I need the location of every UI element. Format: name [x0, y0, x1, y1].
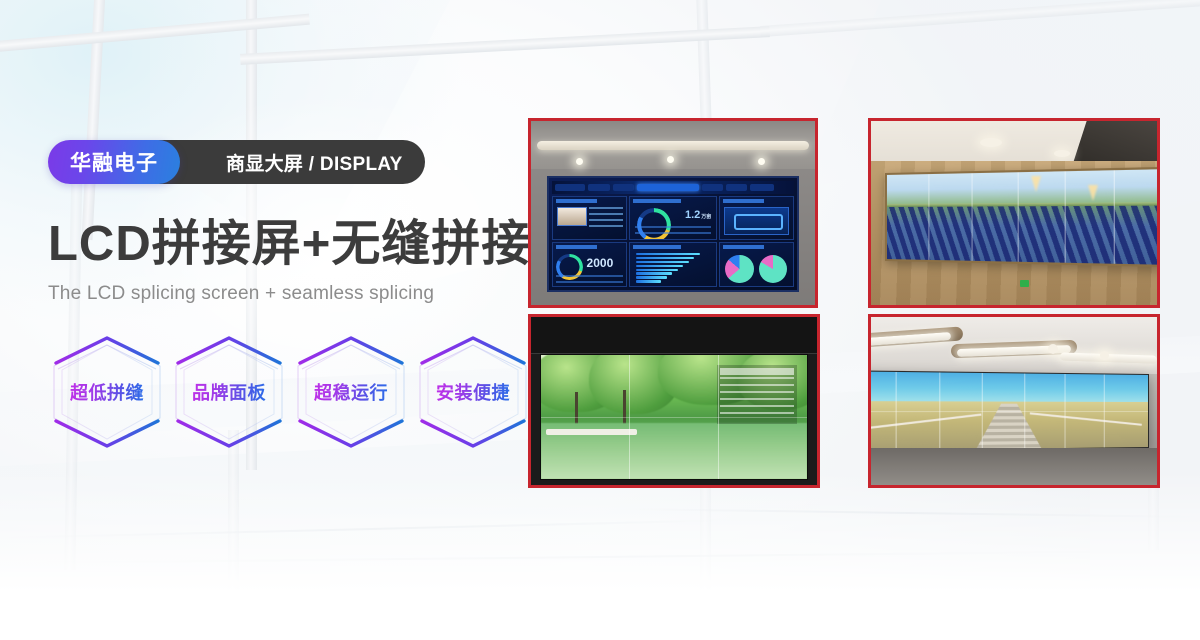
bar [636, 265, 684, 267]
card-header [633, 245, 681, 249]
photo-gallery: 1.2万亩 2000 [528, 118, 1162, 488]
photo-scene [871, 317, 1157, 485]
feature-label: 品牌面板 [192, 379, 266, 405]
chart-legend [635, 226, 712, 237]
video-wall-screen [885, 166, 1160, 267]
pie-chart-group [720, 256, 794, 282]
ceiling-cove-light [537, 141, 810, 150]
dashboard-nav-item [613, 184, 634, 191]
background-bottom-fade [0, 470, 1200, 640]
feature-hexagon: 品牌面板 [170, 333, 288, 451]
dashboard-card-pies [719, 242, 795, 287]
video-wall-screen [868, 370, 1148, 451]
dashboard-nav-item [588, 184, 609, 191]
card-header [556, 199, 597, 203]
page-title: LCD拼接屏+无缝拼接 [48, 218, 548, 271]
feature-list: 超低拼缝 品牌面板 超稳运行 [48, 333, 548, 451]
dashboard-card-flow [719, 196, 795, 241]
photo-scene [531, 317, 817, 485]
photo-solar-farm-video-wall [868, 118, 1160, 308]
wall-sconce-light [1088, 185, 1098, 201]
badge-row: 商显大屏 / DISPLAY 华融电子 [48, 140, 548, 184]
feature-label: 安装便捷 [436, 379, 510, 405]
dashboard-timestamp [555, 184, 586, 191]
wall-sconce-light [1031, 176, 1041, 192]
bar [636, 253, 700, 255]
photo-scene: 1.2万亩 2000 [531, 121, 815, 305]
panel-seam [541, 417, 808, 418]
dashboard-nav-item [726, 184, 747, 191]
tree-trunk [623, 390, 626, 425]
dashboard-card-donut: 1.2万亩 [629, 196, 716, 241]
feature-label: 超低拼缝 [70, 379, 144, 405]
bar [636, 269, 679, 271]
dashboard-title [637, 184, 699, 191]
exit-sign-icon [1020, 280, 1029, 287]
bar [636, 257, 694, 259]
feature-hexagon: 超稳运行 [292, 333, 410, 451]
card-header [633, 199, 681, 203]
bar [636, 261, 689, 263]
banner-text-block: 商显大屏 / DISPLAY 华融电子 LCD拼接屏+无缝拼接 The LCD … [48, 140, 548, 451]
photo-scene [871, 121, 1157, 305]
ceiling-spotlight [758, 158, 765, 165]
calendar-grid [720, 377, 794, 419]
ceiling-light [980, 138, 1002, 147]
chart-legend [556, 275, 622, 284]
bar-chart [636, 253, 711, 283]
feature-hexagon: 安装便捷 [414, 333, 532, 451]
dashboard-header [552, 181, 795, 194]
dashboard-nav-item [702, 184, 723, 191]
bar [636, 276, 667, 278]
tree-trunk [575, 392, 578, 424]
dashboard-card-bars [629, 242, 716, 287]
brand-badge: 华融电子 [48, 140, 180, 184]
bar [636, 272, 673, 274]
bar [636, 280, 661, 282]
photo-dashboard-video-wall: 1.2万亩 2000 [528, 118, 818, 308]
photo-beach-boardwalk-video-wall [868, 314, 1160, 488]
card-header [556, 245, 597, 249]
pie-chart [759, 255, 787, 283]
feature-label: 超稳运行 [314, 379, 388, 405]
video-wall-screen: 1.2万亩 2000 [547, 176, 800, 292]
dashboard-nav-item [750, 184, 774, 191]
dashboard-grid: 1.2万亩 2000 [552, 196, 795, 287]
dashboard-ui: 1.2万亩 2000 [552, 181, 795, 287]
category-badge: 商显大屏 / DISPLAY [138, 140, 425, 184]
card-thumbnail [557, 207, 587, 226]
card-text-lines [589, 207, 623, 229]
page-subtitle: The LCD splicing screen + seamless splic… [48, 283, 548, 305]
kpi-value: 1.2万亩 [685, 209, 711, 221]
video-wall-screen [540, 354, 809, 480]
ceiling [531, 317, 817, 354]
feature-hexagon: 超低拼缝 [48, 333, 166, 451]
pie-chart [725, 255, 753, 283]
card-header [723, 245, 764, 249]
calendar-title [720, 368, 794, 375]
lobby-floor [871, 448, 1157, 485]
dashboard-card-intro [552, 196, 628, 241]
card-header [723, 199, 764, 203]
ceiling-downlight [1100, 351, 1109, 360]
sea-sky [868, 372, 1147, 403]
photo-garden-pond-video-wall [528, 314, 820, 488]
dashboard-card-donut2: 2000 [552, 242, 628, 287]
flow-diagram [724, 207, 789, 235]
garden-railing [546, 429, 637, 435]
calendar-widget [717, 365, 797, 425]
kpi-value: 2000 [587, 256, 614, 270]
